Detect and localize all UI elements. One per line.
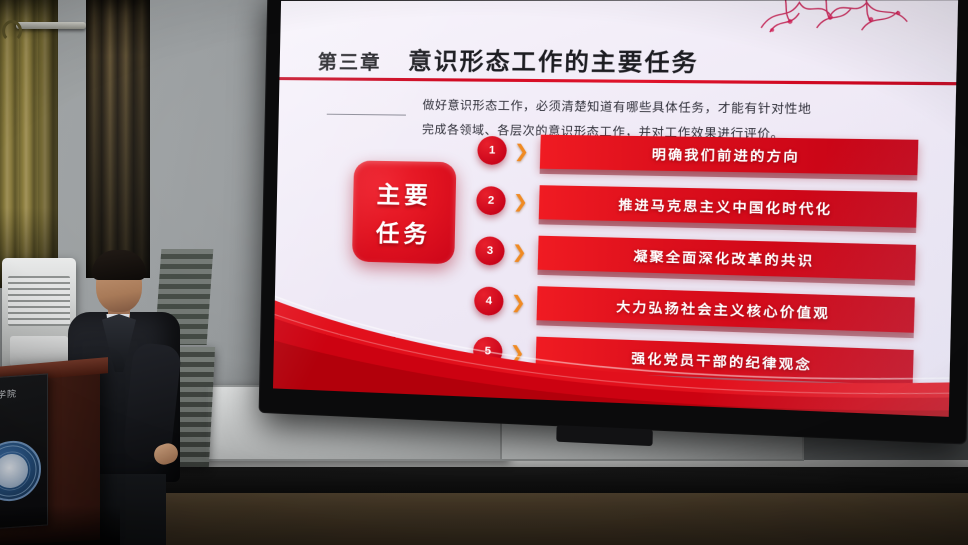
display-screen: 第三章 意识形态工作的主要任务 做好意识形态工作，必须清楚知道有哪些具体任务，才… [273,0,958,417]
task-label: 推进马克思主义中国化时代化 [618,193,833,217]
foreground-shadow [0,505,120,545]
chapter-number: 第三章 [318,47,382,75]
task-number-badge: 1 [477,136,507,165]
presenter-hair [92,250,146,280]
main-tasks-hub: 主要 任务 [352,160,457,264]
chinese-red-ornament-icon [750,0,920,47]
wall-display: 第三章 意识形态工作的主要任务 做好意识形态工作，必须清楚知道有哪些具体任务，才… [260,0,968,443]
task-bar: 凝聚全面深化改革的共识 [538,235,916,280]
chapter-title: 意识形态工作的主要任务 [408,41,699,78]
task-number-badge: 2 [476,186,506,215]
task-row: 3 ❯ 凝聚全面深化改革的共识 [475,232,916,281]
task-number-badge: 3 [475,236,505,265]
chevron-right-icon: ❯ [513,192,534,210]
task-row: 1 ❯ 明确我们前进的方向 [477,132,918,176]
presentation-room-photo: 第三章 意识形态工作的主要任务 做好意识形态工作，必须清楚知道有哪些具体任务，才… [0,0,968,545]
emblem-ring [0,441,39,501]
hub-line-1: 主要 [376,175,432,211]
presentation-slide: 第三章 意识形态工作的主要任务 做好意识形态工作，必须清楚知道有哪些具体任务，才… [273,0,958,417]
slide-title: 第三章 意识形态工作的主要任务 [318,41,700,78]
subtitle-dash [327,114,406,116]
task-row: 2 ❯ 推进马克思主义中国化时代化 [476,182,917,229]
chevron-right-icon: ❯ [514,142,535,160]
task-label: 凝聚全面深化改革的共识 [633,245,815,270]
task-label: 明确我们前进的方向 [652,143,801,165]
task-bar: 推进马克思主义中国化时代化 [539,185,917,227]
school-crest-emblem-icon [0,439,41,503]
chevron-right-icon: ❯ [512,243,533,261]
title-rule [279,77,956,85]
hub-line-2: 任务 [376,214,432,250]
task-bar: 明确我们前进的方向 [540,134,919,174]
podium-sign-text: 工程学院 [0,385,43,403]
